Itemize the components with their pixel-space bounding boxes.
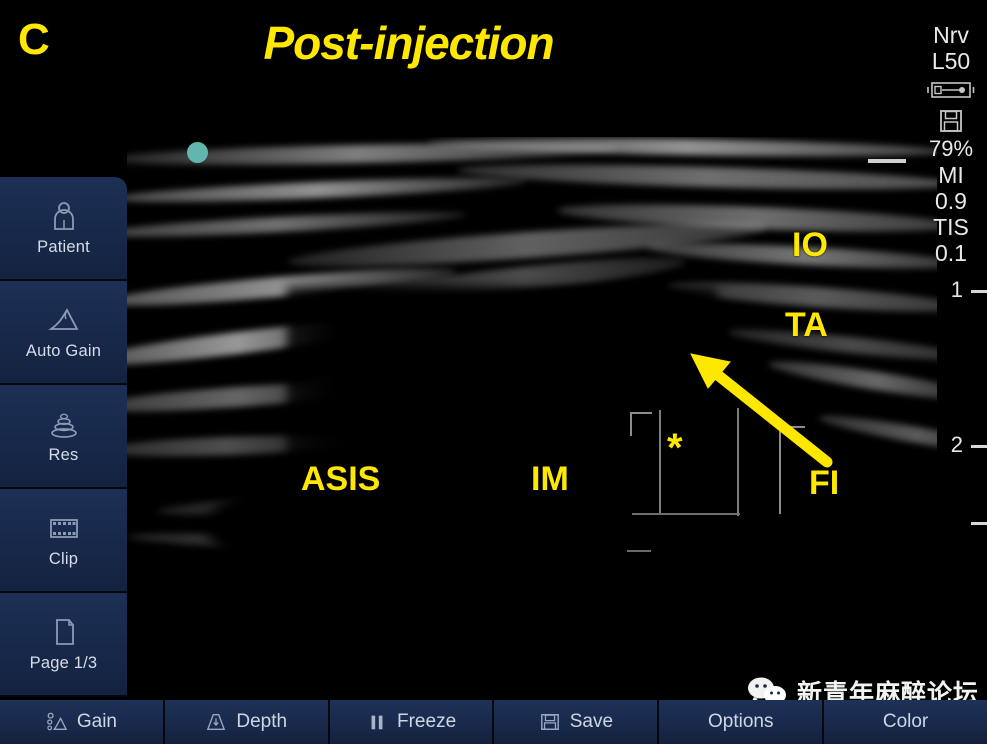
page-icon	[47, 616, 81, 648]
sidebar-item-label: Page 1/3	[30, 654, 98, 673]
right-info-panel: Nrv L50 79% MI 0.9 TIS 0.1	[915, 22, 987, 266]
annotation-io: IO	[792, 228, 828, 262]
toolbar-button-label: Options	[708, 711, 773, 733]
mi-label: MI	[938, 162, 964, 188]
sidebar-item-clip[interactable]: Clip	[0, 489, 127, 593]
depth-label-1: 1	[951, 277, 963, 303]
tis-label: TIS	[933, 214, 969, 240]
sidebar-item-label: Auto Gain	[26, 342, 101, 361]
toolbar-button-depth[interactable]: Depth	[165, 700, 330, 744]
freeze-icon	[366, 712, 388, 732]
auto-gain-icon	[47, 304, 81, 336]
gain-icon	[46, 712, 68, 732]
film-clip-icon	[47, 512, 81, 544]
annotation-im: IM	[531, 462, 569, 496]
caliper-box-vertical-right	[737, 408, 739, 516]
orientation-dot-icon	[187, 142, 208, 163]
toolbar-button-gain[interactable]: Gain	[0, 700, 165, 744]
caliper-bottom-left-tick	[627, 550, 651, 552]
left-sidebar: Patient Auto Gain Res	[0, 177, 127, 700]
sidebar-item-label: Clip	[49, 550, 78, 569]
preset-label: Nrv	[933, 22, 969, 48]
caliper-top-left	[630, 412, 652, 436]
toolbar-button-label: Color	[883, 711, 928, 733]
sidebar-item-patient[interactable]: Patient	[0, 177, 127, 281]
depth-icon	[205, 712, 227, 732]
toolbar-button-label: Save	[570, 711, 613, 733]
save-icon	[539, 712, 561, 732]
floppy-disk-icon	[938, 108, 964, 134]
mi-value: 0.9	[935, 188, 967, 214]
focus-indicator	[868, 159, 906, 163]
annotation-fi: FI	[809, 466, 839, 500]
tis-value: 0.1	[935, 240, 967, 266]
caliper-fi-bracket	[779, 426, 805, 514]
depth-label-2: 2	[951, 432, 963, 458]
ultrasound-screen: C Post-injection	[0, 0, 987, 744]
annotation-ta: TA	[785, 308, 828, 342]
resolution-icon	[47, 408, 81, 440]
caliper-box-vertical-left	[659, 410, 661, 515]
person-icon	[47, 200, 81, 232]
sidebar-item-page[interactable]: Page 1/3	[0, 593, 127, 697]
sidebar-item-label: Res	[49, 446, 79, 465]
sidebar-item-res[interactable]: Res	[0, 385, 127, 489]
sidebar-item-label: Patient	[37, 238, 90, 257]
ultrasound-image-area[interactable]: 1 2 IO TA ASIS IM FI *	[127, 110, 987, 700]
toolbar-button-label: Freeze	[397, 711, 456, 733]
toolbar-button-label: Gain	[77, 711, 117, 733]
annotation-asterisk: *	[667, 428, 683, 468]
bottom-toolbar: Gain Depth Freeze Save	[0, 700, 987, 744]
toolbar-button-freeze[interactable]: Freeze	[330, 700, 495, 744]
toolbar-button-label: Depth	[236, 711, 287, 733]
gain-percent: 79%	[929, 136, 973, 161]
caliper-bottom-line	[632, 513, 740, 515]
toolbar-button-options[interactable]: Options	[659, 700, 824, 744]
probe-label: L50	[932, 48, 970, 74]
toolbar-button-color[interactable]: Color	[824, 700, 987, 744]
annotation-asis: ASIS	[301, 462, 380, 496]
transducer-icon	[927, 80, 975, 100]
sidebar-item-auto-gain[interactable]: Auto Gain	[0, 281, 127, 385]
toolbar-button-save[interactable]: Save	[494, 700, 659, 744]
page-title: Post-injection	[0, 16, 987, 70]
